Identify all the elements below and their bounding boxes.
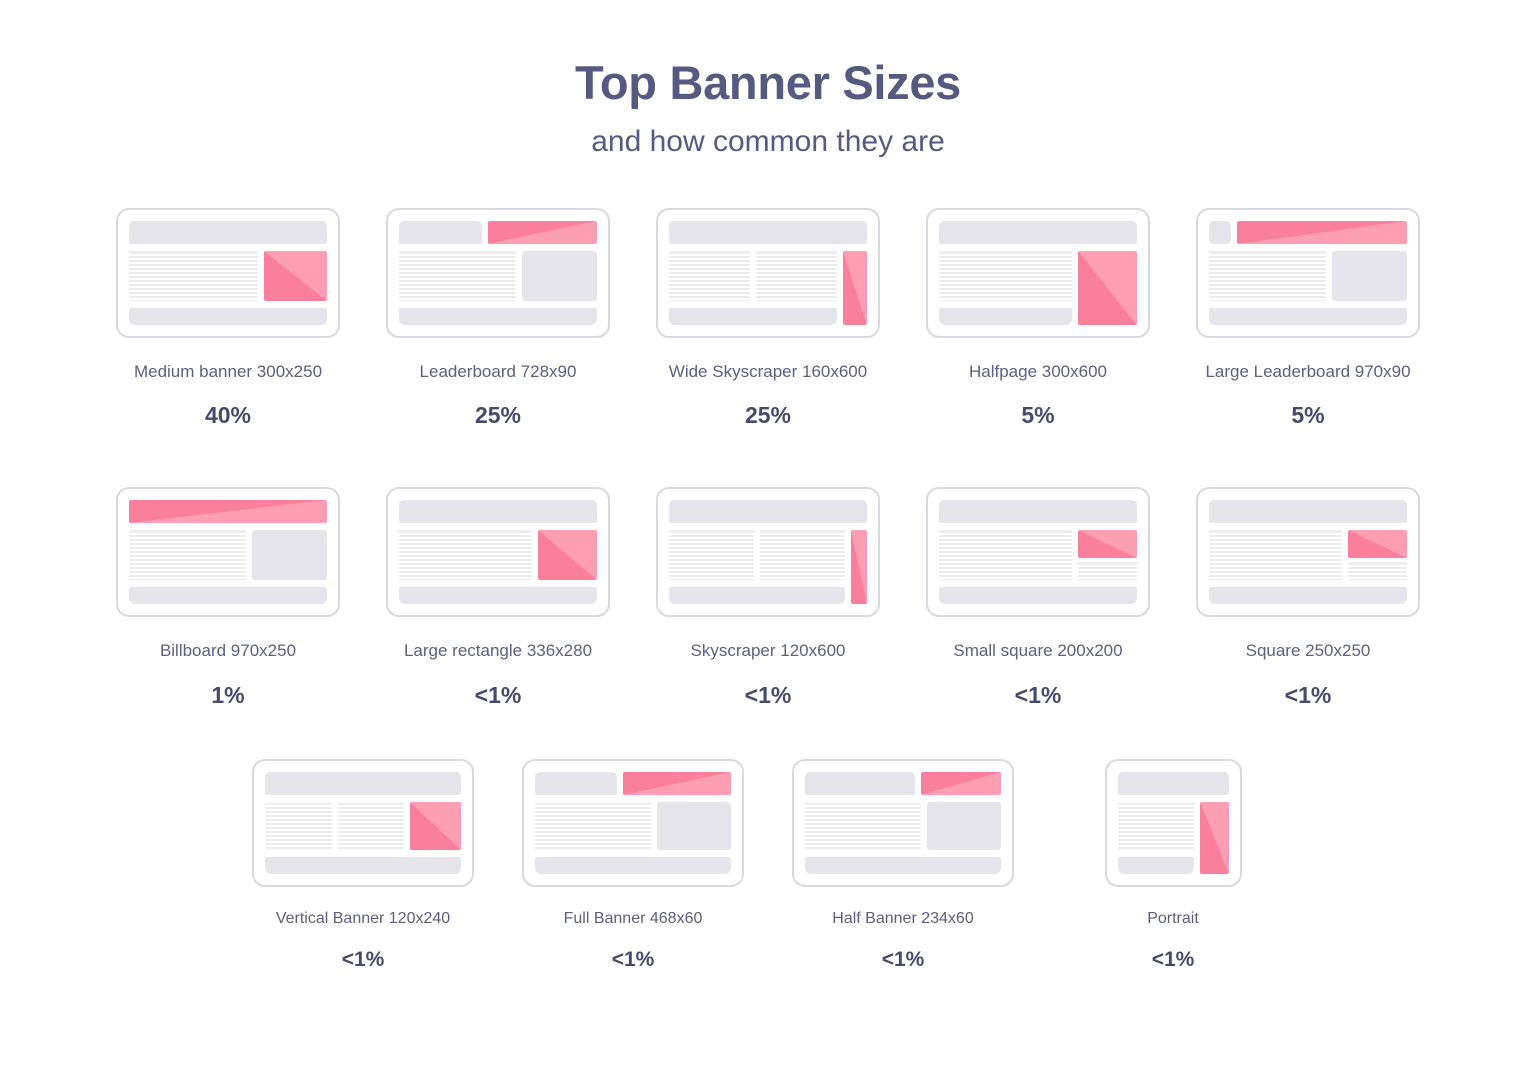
mock-side-column (1348, 530, 1407, 580)
banner-label: Small square 200x200 (953, 640, 1122, 661)
banner-percent: <1% (1285, 684, 1332, 707)
banner-percent: <1% (745, 684, 792, 707)
banner-label: Wide Skyscraper 160x600 (669, 361, 867, 382)
banner-card-wide-skyscraper[interactable]: Wide Skyscraper 160x600 25% (649, 208, 887, 427)
mock-header-bar (129, 221, 327, 244)
banner-label: Medium banner 300x250 (134, 361, 322, 382)
banner-percent: <1% (612, 949, 655, 970)
ad-slot-skyscraper (851, 530, 867, 604)
banner-percent: 25% (475, 404, 521, 427)
text-lines (1118, 802, 1194, 850)
mock-footer-bar (669, 587, 845, 604)
banner-percent: <1% (1015, 684, 1062, 707)
text-lines (939, 530, 1072, 580)
header-placeholder-block (939, 500, 1137, 523)
text-lines (669, 251, 750, 301)
header-logo-block (1209, 221, 1231, 244)
text-lines (338, 802, 405, 850)
mock-body (129, 251, 327, 301)
mock-body (399, 530, 597, 580)
banner-card-skyscraper[interactable]: Skyscraper 120x600 <1% (649, 487, 887, 706)
banner-mock-skyscraper (656, 487, 880, 617)
header-placeholder-block (129, 221, 327, 244)
ad-slot-skyscraper (843, 251, 867, 325)
header-placeholder-block (535, 772, 617, 795)
mock-footer-bar (535, 857, 731, 874)
ad-slot-vertical-banner (410, 802, 461, 850)
mock-footer-bar (1118, 857, 1194, 874)
header-placeholder-block (669, 500, 867, 523)
banner-card-billboard[interactable]: Billboard 970x250 1% (109, 487, 347, 706)
header-placeholder-block (399, 221, 482, 244)
banner-row-1: Medium banner 300x250 40% Leaderboard (0, 208, 1536, 427)
banner-label: Billboard 970x250 (160, 640, 296, 661)
banner-mock-full-banner (522, 759, 744, 887)
banner-mock-leaderboard (386, 208, 610, 338)
banner-label: Vertical Banner 120x240 (276, 909, 450, 929)
banner-card-large-leaderboard[interactable]: Large Leaderboard 970x90 5% (1189, 208, 1427, 427)
mock-footer-bar (129, 587, 327, 604)
mock-content-stack (1118, 802, 1194, 874)
text-lines (129, 530, 246, 580)
text-lines (760, 530, 845, 580)
ad-slot-billboard (129, 500, 327, 523)
text-lines (265, 802, 332, 850)
mock-body (805, 802, 1001, 850)
banner-mock-small-square (926, 487, 1150, 617)
mock-header-bar (1209, 500, 1407, 523)
banner-card-vertical-banner[interactable]: Vertical Banner 120x240 <1% (253, 759, 473, 970)
text-lines (1348, 562, 1407, 580)
banner-label: Skyscraper 120x600 (691, 640, 846, 661)
mock-header-bar (1209, 221, 1407, 244)
mock-footer-bar (939, 587, 1137, 604)
header-placeholder-block (669, 221, 867, 244)
content-block (522, 251, 597, 301)
ad-slot-rectangle (538, 530, 597, 580)
mock-header-bar (535, 772, 731, 795)
banner-card-large-rectangle[interactable]: Large rectangle 336x280 <1% (379, 487, 617, 706)
mock-header-bar (1118, 772, 1229, 795)
banner-label: Large Leaderboard 970x90 (1205, 361, 1410, 382)
ad-slot-half-banner (921, 772, 1001, 795)
mock-footer-bar (129, 308, 327, 325)
banner-card-full-banner[interactable]: Full Banner 468x60 <1% (523, 759, 743, 970)
banner-mock-portrait (1105, 759, 1242, 887)
content-block (927, 802, 1001, 850)
mock-body (669, 251, 867, 325)
text-lines (399, 530, 532, 580)
banner-mock-vertical-banner (252, 759, 474, 887)
mock-body (669, 530, 867, 604)
ad-slot-image (264, 251, 327, 301)
mock-footer-bar (399, 308, 597, 325)
mock-columns (669, 251, 837, 301)
page-title: Top Banner Sizes (0, 56, 1536, 110)
mock-body (939, 251, 1137, 325)
banner-row-3: Vertical Banner 120x240 <1% Full Bann (0, 759, 1536, 970)
mock-footer-bar (399, 587, 597, 604)
content-block (1332, 251, 1407, 301)
mock-body (265, 802, 461, 850)
text-lines (1209, 251, 1326, 301)
ad-slot-banner (488, 221, 597, 244)
text-lines (535, 802, 651, 850)
header-placeholder-block (399, 500, 597, 523)
header-placeholder-block (1118, 772, 1229, 795)
banner-percent: 1% (211, 684, 244, 707)
header-placeholder-block (265, 772, 461, 795)
mock-body (129, 530, 327, 580)
mock-header-bar (939, 221, 1137, 244)
mock-side-column (1078, 530, 1137, 580)
mock-header-bar (669, 221, 867, 244)
banner-mock-halfpage (926, 208, 1150, 338)
mock-content-stack (669, 530, 845, 604)
text-lines (756, 251, 837, 301)
mock-header-bar (939, 500, 1137, 523)
text-lines (939, 251, 1072, 301)
mock-footer-bar (669, 308, 837, 325)
mock-header-bar (669, 500, 867, 523)
mock-footer-bar (939, 308, 1072, 325)
text-lines (129, 251, 258, 301)
mock-header-bar (129, 500, 327, 523)
banner-grid: Medium banner 300x250 40% Leaderboard (0, 208, 1536, 970)
mock-columns (939, 251, 1072, 301)
mock-body (1209, 530, 1407, 580)
mock-columns (669, 530, 845, 580)
ad-slot-banner (1237, 221, 1407, 244)
banner-mock-large-rectangle (386, 487, 610, 617)
banner-percent: <1% (342, 949, 385, 970)
banner-percent: 25% (745, 404, 791, 427)
mock-body (1209, 251, 1407, 301)
header-placeholder-block (939, 221, 1137, 244)
mock-body (1118, 802, 1229, 874)
mock-header-bar (805, 772, 1001, 795)
content-block (657, 802, 731, 850)
header-placeholder-block (805, 772, 915, 795)
banner-mock-half-banner (792, 759, 1014, 887)
text-lines (669, 530, 754, 580)
mock-footer-bar (805, 857, 1001, 874)
header: Top Banner Sizes and how common they are (0, 0, 1536, 160)
banner-percent: 5% (1291, 404, 1324, 427)
banner-card-medium-banner[interactable]: Medium banner 300x250 40% (109, 208, 347, 427)
mock-footer-bar (1209, 587, 1407, 604)
mock-header-bar (399, 221, 597, 244)
banner-label: Half Banner 234x60 (832, 909, 973, 929)
banner-label: Halfpage 300x600 (969, 361, 1107, 382)
banner-mock-medium-banner (116, 208, 340, 338)
text-lines (805, 802, 921, 850)
banner-percent: <1% (882, 949, 925, 970)
ad-slot-full-banner (623, 772, 731, 795)
banner-mock-large-leaderboard (1196, 208, 1420, 338)
mock-content-stack (939, 251, 1072, 325)
mock-content-stack (669, 251, 837, 325)
page-subtitle: and how common they are (0, 124, 1536, 160)
mock-columns (1118, 802, 1194, 850)
mock-footer-bar (265, 857, 461, 874)
ad-slot-halfpage (1078, 251, 1137, 325)
banner-card-half-banner[interactable]: Half Banner 234x60 <1% (793, 759, 1013, 970)
banner-mock-wide-skyscraper (656, 208, 880, 338)
banner-percent: 40% (205, 404, 251, 427)
ad-slot-square (1078, 530, 1137, 558)
banner-card-square[interactable]: Square 250x250 <1% (1189, 487, 1427, 706)
banner-row-2: Billboard 970x250 1% Large rectangle 336… (0, 487, 1536, 706)
ad-slot-portrait (1200, 802, 1229, 874)
banner-label: Large rectangle 336x280 (404, 640, 592, 661)
text-lines (399, 251, 516, 301)
banner-mock-billboard (116, 487, 340, 617)
banner-card-halfpage[interactable]: Halfpage 300x600 5% (919, 208, 1157, 427)
mock-header-bar (265, 772, 461, 795)
content-block (252, 530, 327, 580)
mock-body (399, 251, 597, 301)
header-placeholder-block (1209, 500, 1407, 523)
banner-label: Portrait (1147, 909, 1199, 929)
banner-card-small-square[interactable]: Small square 200x200 <1% (919, 487, 1157, 706)
ad-slot-square (1348, 530, 1407, 558)
banner-label: Square 250x250 (1246, 640, 1371, 661)
mock-footer-bar (1209, 308, 1407, 325)
mock-body (535, 802, 731, 850)
banner-percent: <1% (475, 684, 522, 707)
text-lines (1209, 530, 1342, 580)
banner-label: Leaderboard 728x90 (420, 361, 577, 382)
text-lines (1078, 562, 1137, 580)
banner-percent: <1% (1152, 949, 1195, 970)
mock-header-bar (399, 500, 597, 523)
banner-card-portrait[interactable]: Portrait <1% (1063, 759, 1283, 970)
infographic-page: Top Banner Sizes and how common they are… (0, 0, 1536, 1083)
mock-body (939, 530, 1137, 580)
banner-label: Full Banner 468x60 (564, 909, 703, 929)
banner-card-leaderboard[interactable]: Leaderboard 728x90 25% (379, 208, 617, 427)
banner-percent: 5% (1021, 404, 1054, 427)
banner-mock-square (1196, 487, 1420, 617)
